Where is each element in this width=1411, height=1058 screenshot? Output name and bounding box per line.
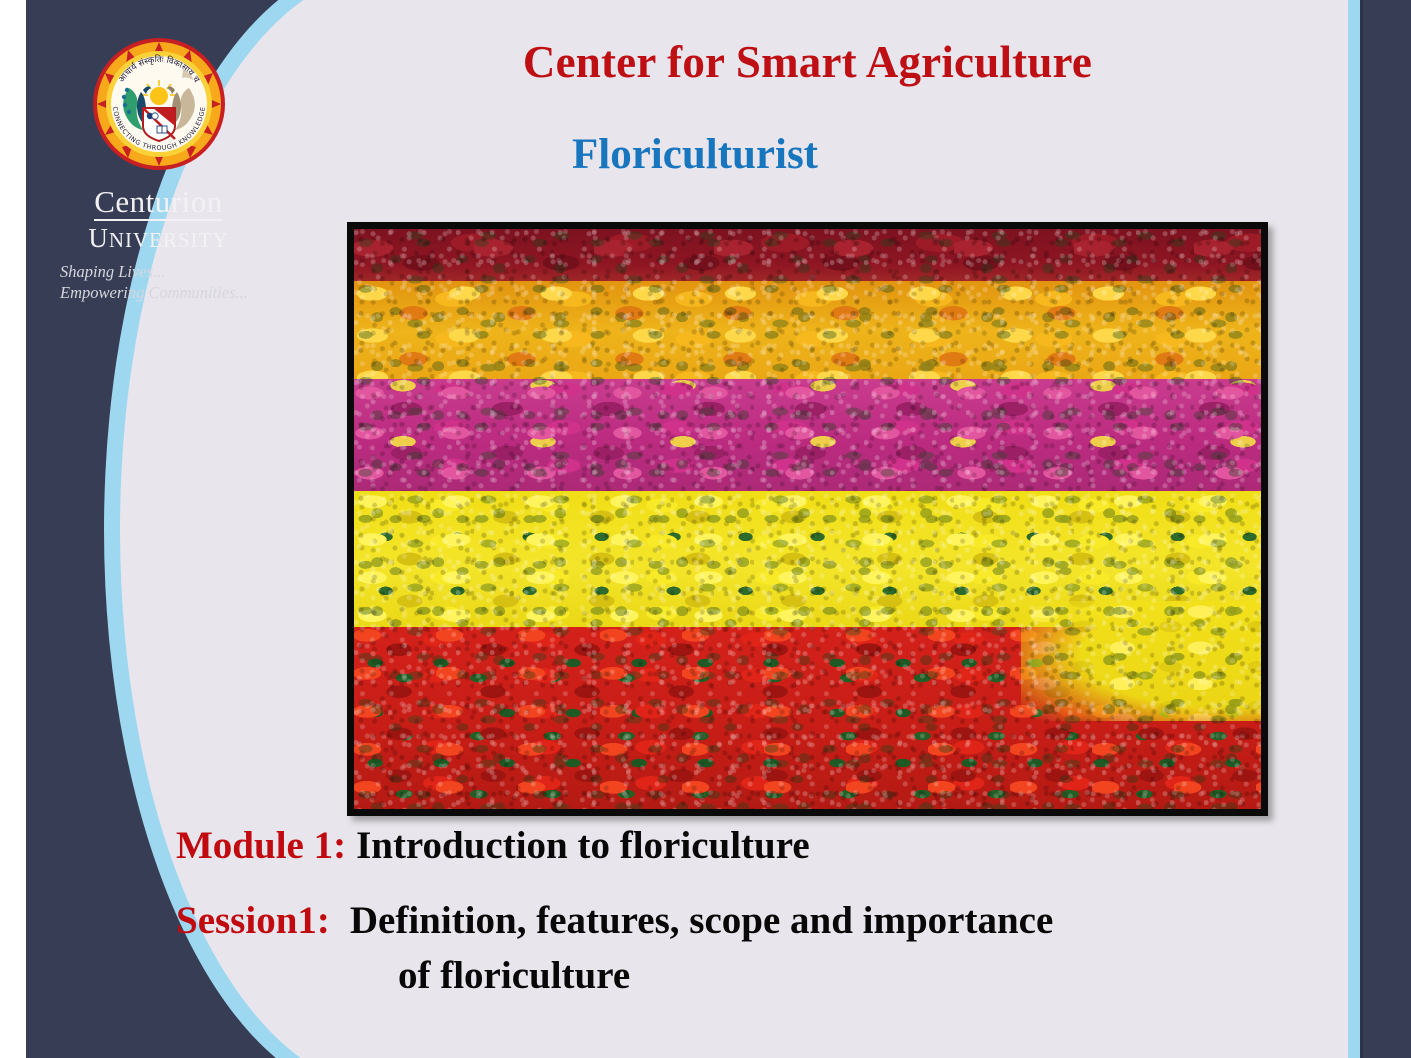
right-blue-stripe xyxy=(1348,0,1360,1058)
module-label: Module 1: xyxy=(176,824,346,867)
tagline-line-1: Shaping Lives... xyxy=(60,261,271,282)
photo-bloom-texture-overlay xyxy=(354,229,1261,809)
right-navy-edge-line xyxy=(1360,0,1363,1058)
page-title: Center for Smart Agriculture xyxy=(345,36,1270,88)
university-branding: आचार्य संस्कृतिः विकासाय च CONNECTING TH… xyxy=(46,36,271,303)
session-line-continued: of floriculture xyxy=(176,956,1336,995)
right-navy-band xyxy=(1360,0,1411,1058)
tagline-line-2: Empowering Communities... xyxy=(60,282,271,303)
university-tagline: Shaping Lives... Empowering Communities.… xyxy=(46,261,271,303)
session-line: Session1:Definition, features, scope and… xyxy=(176,901,1336,940)
module-line: Module 1:Introduction to floriculture xyxy=(176,826,1336,865)
university-name-line1: Centurion xyxy=(94,186,223,221)
university-wordmark: Centurion UNIVERSITY xyxy=(46,186,271,252)
centurion-university-seal-icon: आचार्य संस्कृतिः विकासाय च CONNECTING TH… xyxy=(91,36,227,172)
session-text: Definition, features, scope and importan… xyxy=(350,899,1053,942)
page-subtitle: Floriculturist xyxy=(345,130,1045,179)
module-text: Introduction to floriculture xyxy=(356,824,810,867)
session-label: Session1: xyxy=(176,899,330,942)
university-name-line2: UNIVERSITY xyxy=(46,225,271,252)
flower-field-photo xyxy=(347,222,1268,816)
left-white-gutter xyxy=(0,0,26,1058)
presentation-slide: आचार्य संस्कृतिः विकासाय च CONNECTING TH… xyxy=(0,0,1411,1058)
flower-field-photo-inner xyxy=(354,229,1261,809)
session-content: Module 1:Introduction to floriculture Se… xyxy=(176,826,1336,995)
